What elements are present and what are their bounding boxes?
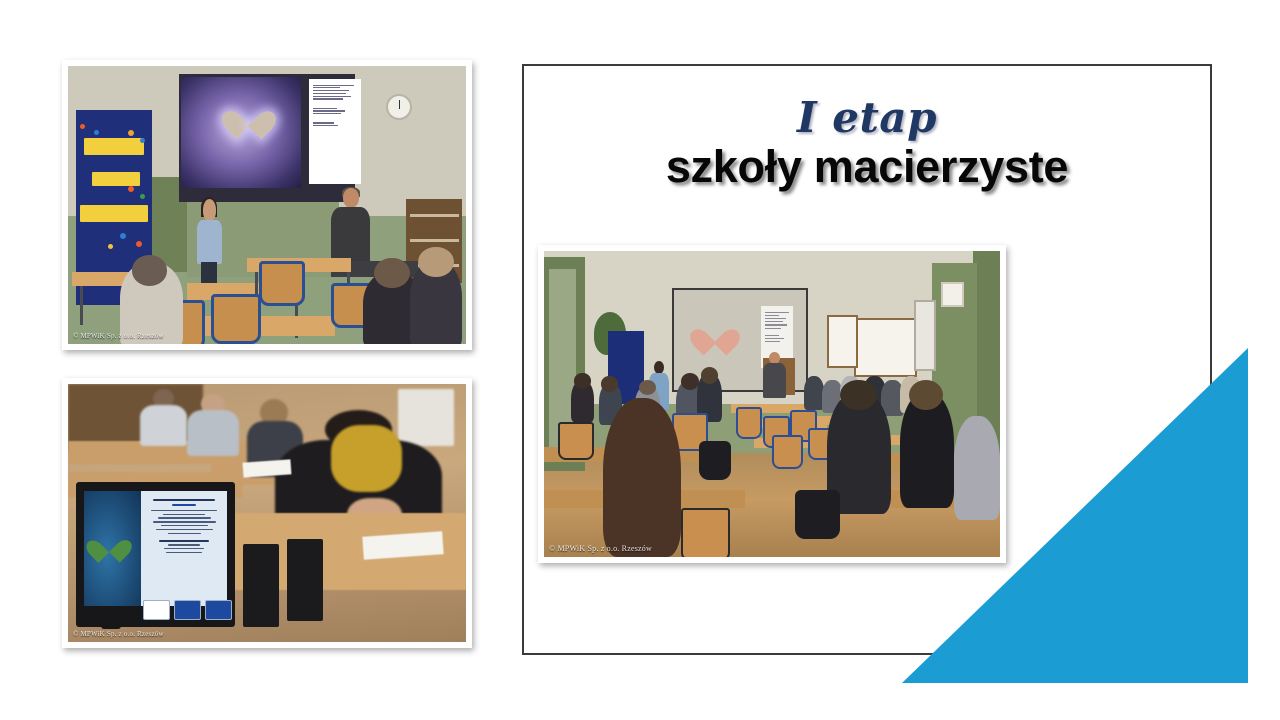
logo-cross [205, 600, 232, 621]
monitor-screen [84, 491, 227, 607]
photo-scene-students-writing: © MPWiK Sp. z o.o. Rzeszów [68, 384, 466, 642]
heart-graphic-icon [698, 318, 733, 347]
slide-logos [143, 599, 232, 621]
monitor [76, 482, 235, 626]
logo-circle [143, 600, 170, 621]
photo-students-writing[interactable]: © MPWiK Sp. z o.o. Rzeszów [62, 378, 472, 648]
foreground-student [603, 398, 681, 557]
photo-scene-classroom-presentation: © MPWiK Sp. z o.o. Rzeszów [68, 66, 466, 344]
logo-mpwik [174, 600, 201, 621]
wall-clock-icon [386, 94, 412, 120]
blue-corner-triangle [902, 348, 1248, 683]
photo-watermark: © MPWiK Sp. z o.o. Rzeszów [73, 630, 164, 638]
presenter-woman [195, 199, 223, 294]
photo-inner-frame: © MPWiK Sp. z o.o. Rzeszów [68, 66, 466, 344]
photo-inner-frame: © MPWiK Sp. z o.o. Rzeszów [68, 384, 466, 642]
presentation-slide: I etap szkoły macierzyste [0, 0, 1280, 720]
photo-watermark: © MPWiK Sp. z o.o. Rzeszów [549, 544, 652, 553]
photo-classroom-presentation[interactable]: © MPWiK Sp. z o.o. Rzeszów [62, 60, 472, 350]
heart-graphic-icon [94, 530, 124, 556]
photo-watermark: © MPWiK Sp. z o.o. Rzeszów [73, 332, 164, 340]
heart-graphic-icon [231, 99, 267, 131]
teacher-man [763, 352, 786, 398]
